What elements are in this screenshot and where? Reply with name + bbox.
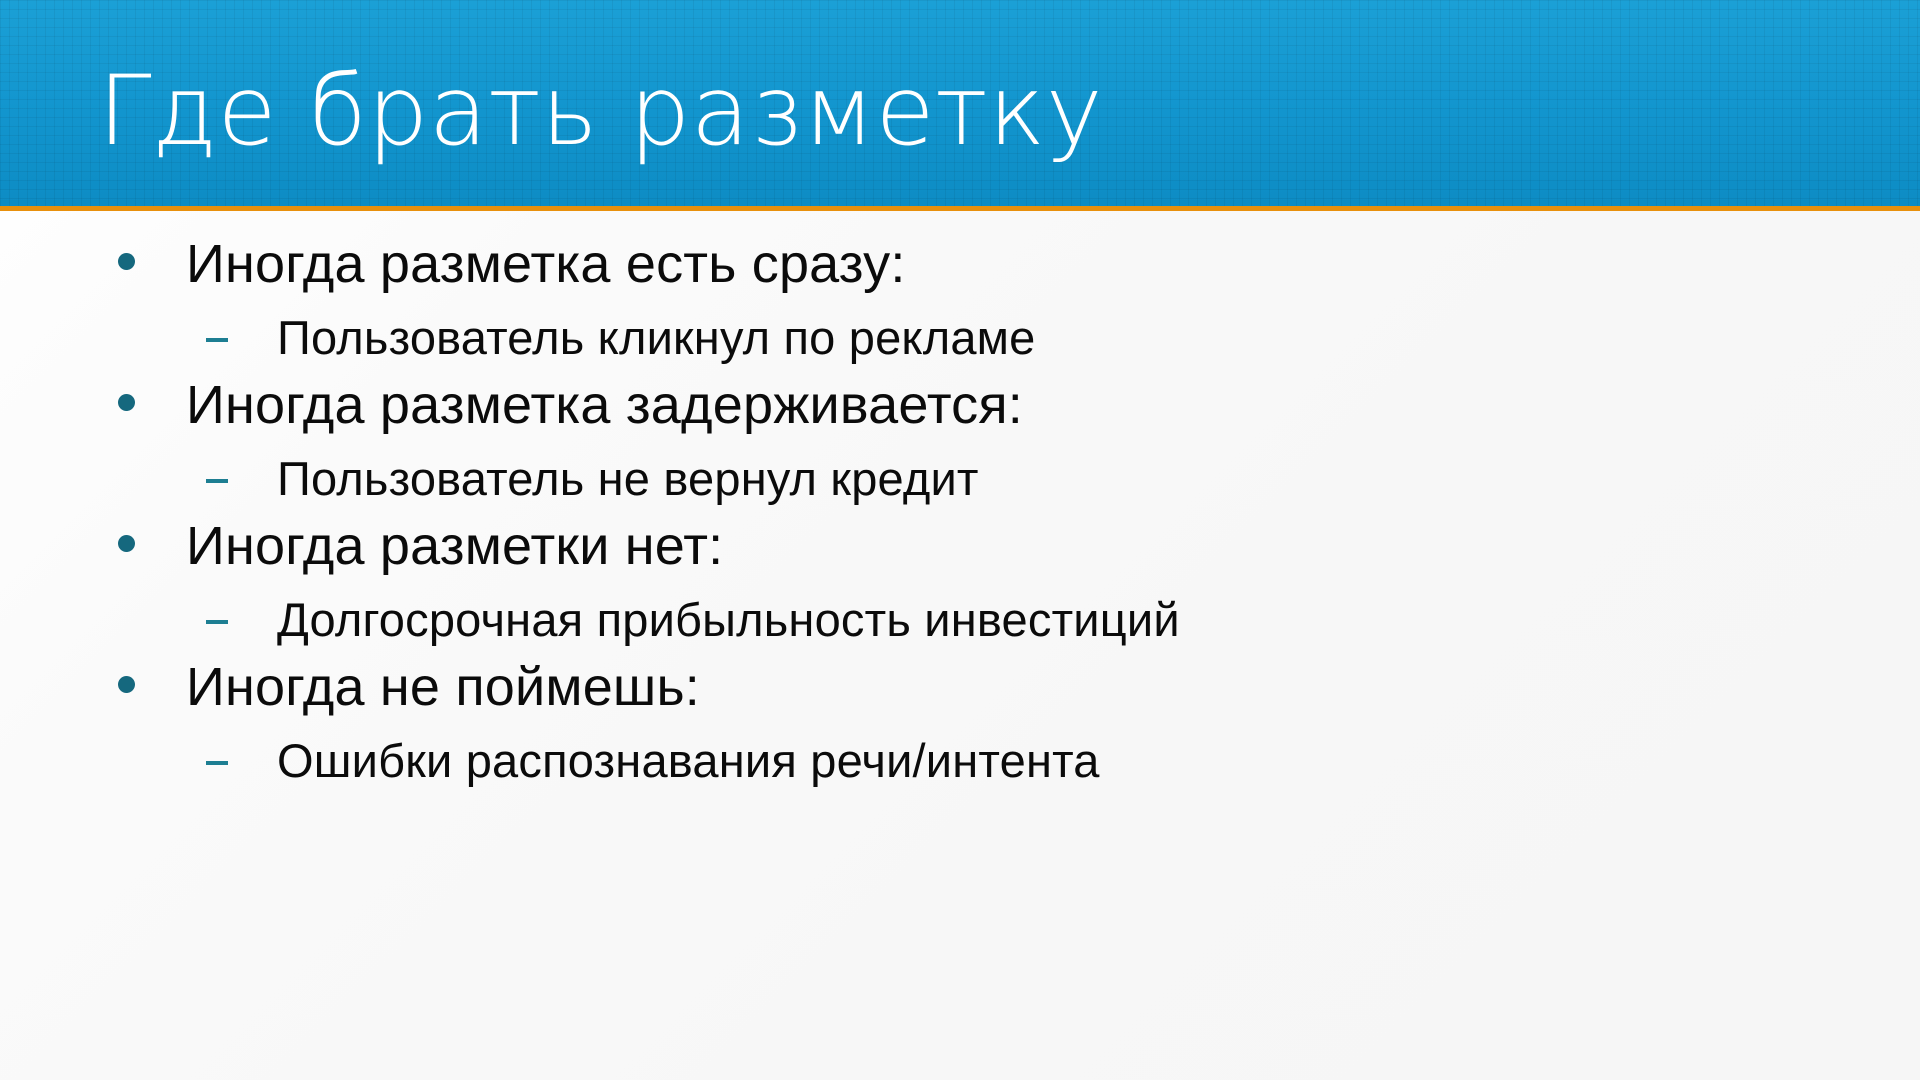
slide-body-content: Иногда разметка есть сразу:Пользователь …	[0, 211, 1920, 1080]
bullet-item: Иногда разметка есть сразу:	[118, 233, 906, 295]
bullet-dash-icon	[206, 472, 277, 490]
dot-glyph	[118, 394, 135, 411]
bullet-item: Иногда разметка задерживается:	[118, 374, 1023, 436]
sub-bullet-text: Пользователь не вернул кредит	[277, 451, 979, 506]
sub-bullet-text: Долгосрочная прибыльность инвестиций	[277, 592, 1180, 647]
sub-bullet-text: Ошибки распознавания речи/интента	[277, 733, 1100, 788]
bullet-dot-icon	[118, 389, 186, 415]
dot-glyph	[118, 253, 135, 270]
bullet-text: Иногда разметка задерживается:	[186, 374, 1023, 436]
sub-bullet-item: Долгосрочная прибыльность инвестиций	[206, 592, 1180, 647]
bullet-text: Иногда разметка есть сразу:	[186, 233, 906, 295]
bullet-text: Иногда разметки нет:	[186, 515, 723, 577]
dash-glyph	[206, 761, 228, 765]
dot-glyph	[118, 676, 135, 693]
dash-glyph	[206, 620, 228, 624]
sub-bullet-item: Ошибки распознавания речи/интента	[206, 733, 1100, 788]
dash-glyph	[206, 338, 228, 342]
bullet-dash-icon	[206, 613, 277, 631]
dash-glyph	[206, 479, 228, 483]
bullet-item: Иногда не поймешь:	[118, 656, 700, 718]
sub-bullet-item: Пользователь не вернул кредит	[206, 451, 979, 506]
bullet-dot-icon	[118, 530, 186, 556]
bullet-text: Иногда не поймешь:	[186, 656, 700, 718]
slide-title: Где брать разметку	[98, 48, 1798, 175]
presentation-slide: Где брать разметку Иногда разметка есть …	[0, 0, 1920, 1080]
bullet-item: Иногда разметки нет:	[118, 515, 723, 577]
bullet-dot-icon	[118, 671, 186, 697]
dot-glyph	[118, 535, 135, 552]
bullet-dash-icon	[206, 331, 277, 349]
sub-bullet-text: Пользователь кликнул по рекламе	[277, 310, 1036, 365]
bullet-dot-icon	[118, 248, 186, 274]
bullet-dash-icon	[206, 754, 277, 772]
sub-bullet-item: Пользователь кликнул по рекламе	[206, 310, 1036, 365]
slide-title-band: Где брать разметку	[0, 0, 1920, 206]
